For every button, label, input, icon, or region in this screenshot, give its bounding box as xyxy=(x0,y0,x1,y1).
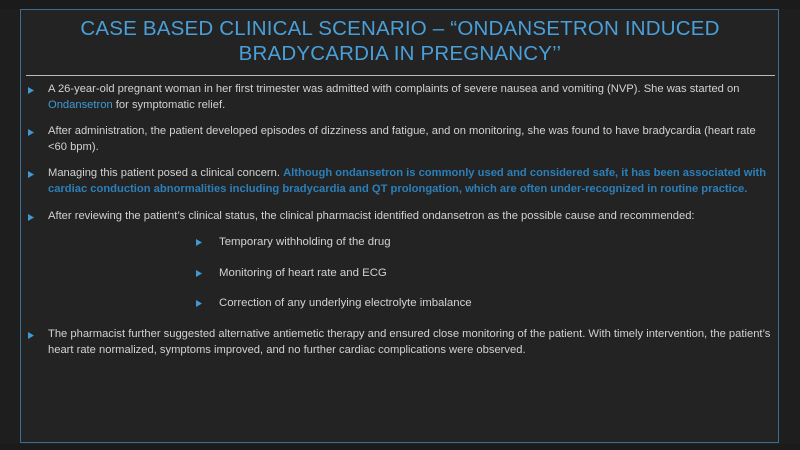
slide-edge-left xyxy=(0,0,20,450)
triangle-right-icon xyxy=(196,266,219,277)
text-segment: The pharmacist further suggested alterna… xyxy=(48,328,770,356)
bullet-item: After reviewing the patient’s clinical s… xyxy=(28,209,776,225)
bullet-text: Correction of any underlying electrolyte… xyxy=(219,296,776,312)
triangle-right-icon xyxy=(28,166,48,178)
bullet-text: After administration, the patient develo… xyxy=(48,124,776,155)
text-segment: A 26-year-old pregnant woman in her firs… xyxy=(48,83,739,95)
page-title: CASE BASED CLINICAL SCENARIO – “ONDANSET… xyxy=(30,16,770,66)
title-divider xyxy=(26,75,775,76)
bullet-text: The pharmacist further suggested alterna… xyxy=(48,327,776,358)
text-segment: Monitoring of heart rate and ECG xyxy=(219,267,387,279)
text-segment: Temporary withholding of the drug xyxy=(219,236,391,248)
bullet-item: Managing this patient posed a clinical c… xyxy=(28,166,776,197)
bullet-text: Managing this patient posed a clinical c… xyxy=(48,166,776,197)
bullet-text: Monitoring of heart rate and ECG xyxy=(219,266,776,282)
slide-edge-bottom xyxy=(0,444,800,450)
slide: CASE BASED CLINICAL SCENARIO – “ONDANSET… xyxy=(0,0,800,450)
text-segment: Correction of any underlying electrolyte… xyxy=(219,297,472,309)
sub-bullet-item: Correction of any underlying electrolyte… xyxy=(28,296,776,312)
slide-edge-top xyxy=(0,0,800,9)
text-segment: for symptomatic relief. xyxy=(113,99,226,111)
triangle-right-icon xyxy=(28,82,48,94)
text-segment: After reviewing the patient’s clinical s… xyxy=(48,210,695,222)
title-block: CASE BASED CLINICAL SCENARIO – “ONDANSET… xyxy=(30,16,770,66)
text-segment: Managing this patient posed a clinical c… xyxy=(48,167,283,179)
sub-bullet-item: Temporary withholding of the drug xyxy=(28,235,776,251)
slide-edge-right xyxy=(779,0,800,450)
bullet-text: A 26-year-old pregnant woman in her firs… xyxy=(48,82,776,113)
bullet-item: The pharmacist further suggested alterna… xyxy=(28,327,776,358)
triangle-right-icon xyxy=(28,124,48,136)
triangle-right-icon xyxy=(196,296,219,307)
text-segment: After administration, the patient develo… xyxy=(48,125,756,153)
sub-bullet-item: Monitoring of heart rate and ECG xyxy=(28,266,776,282)
triangle-right-icon xyxy=(28,209,48,221)
bullet-text: After reviewing the patient’s clinical s… xyxy=(48,209,776,225)
slide-body: A 26-year-old pregnant woman in her firs… xyxy=(28,82,776,369)
bullet-text: Temporary withholding of the drug xyxy=(219,235,776,251)
bullet-item: After administration, the patient develo… xyxy=(28,124,776,155)
bullet-item: A 26-year-old pregnant woman in her firs… xyxy=(28,82,776,113)
triangle-right-icon xyxy=(196,235,219,246)
triangle-right-icon xyxy=(28,327,48,339)
highlighted-drug-name: Ondansetron xyxy=(48,99,113,111)
